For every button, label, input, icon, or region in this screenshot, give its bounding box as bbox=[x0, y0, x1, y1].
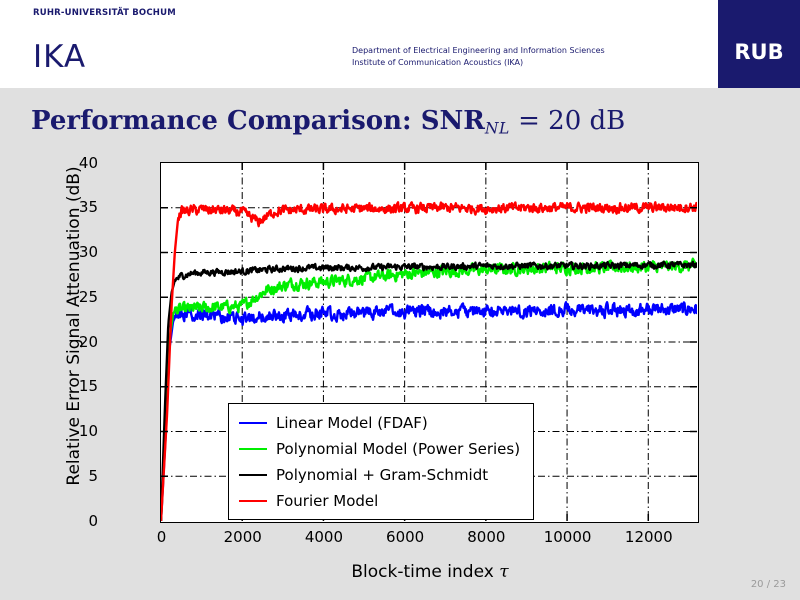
page-number: 20 / 23 bbox=[751, 579, 786, 590]
legend-item: Linear Model (FDAF) bbox=[239, 410, 533, 436]
department-line-2: Institute of Communication Acoustics (IK… bbox=[352, 57, 605, 69]
university-name: RUHR-UNIVERSITÄT BOCHUM bbox=[33, 8, 176, 18]
y-tick-label: 25 bbox=[79, 290, 98, 305]
legend-label-polynomial-model: Polynomial Model (Power Series) bbox=[276, 440, 520, 458]
chart-figure: Relative Error Signal Attenuation (dB) 0… bbox=[0, 150, 800, 590]
x-tick-label: 12000 bbox=[609, 530, 689, 545]
legend-label-gram-schmidt: Polynomial + Gram-Schmidt bbox=[276, 466, 488, 484]
x-tick-label: 4000 bbox=[284, 530, 364, 545]
department-line-1: Department of Electrical Engineering and… bbox=[352, 45, 605, 57]
x-tick-label: 2000 bbox=[203, 530, 283, 545]
rub-logo-text: RUB bbox=[718, 40, 800, 64]
institute-logo: IKA bbox=[33, 42, 86, 73]
x-tick-label: 0 bbox=[122, 530, 202, 545]
title-value: = 20 dB bbox=[510, 106, 625, 136]
y-tick-label: 5 bbox=[88, 469, 98, 484]
rub-logo: RUB bbox=[718, 0, 800, 88]
legend-label-fourier-model: Fourier Model bbox=[276, 492, 378, 510]
legend-swatch-gram-schmidt bbox=[239, 474, 267, 476]
y-tick-label: 0 bbox=[88, 514, 98, 529]
legend-swatch-linear-model bbox=[239, 422, 267, 424]
legend-item: Polynomial + Gram-Schmidt bbox=[239, 462, 533, 488]
x-tick-label: 6000 bbox=[365, 530, 445, 545]
y-tick-label: 20 bbox=[79, 335, 98, 350]
x-axis-label: Block-time index τ bbox=[160, 562, 700, 582]
title-symbol: SNR bbox=[421, 106, 485, 136]
y-tick-label: 30 bbox=[79, 245, 98, 260]
chart-legend: Linear Model (FDAF) Polynomial Model (Po… bbox=[228, 403, 534, 520]
y-tick-label: 10 bbox=[79, 424, 98, 439]
x-tick-label: 8000 bbox=[446, 530, 526, 545]
legend-item: Polynomial Model (Power Series) bbox=[239, 436, 533, 462]
y-tick-label: 15 bbox=[79, 379, 98, 394]
title-subscript: NL bbox=[485, 119, 510, 137]
slide-header: RUHR-UNIVERSITÄT BOCHUM IKA Department o… bbox=[0, 0, 752, 88]
tau-symbol: τ bbox=[499, 562, 508, 582]
department-info: Department of Electrical Engineering and… bbox=[352, 45, 605, 68]
legend-swatch-polynomial-model bbox=[239, 448, 267, 450]
legend-label-linear-model: Linear Model (FDAF) bbox=[276, 414, 428, 432]
legend-item: Fourier Model bbox=[239, 488, 533, 514]
page-title: Performance Comparison: SNRNL = 20 dB bbox=[31, 106, 625, 137]
x-axis-label-text: Block-time index bbox=[351, 562, 499, 582]
y-tick-label: 40 bbox=[79, 156, 98, 171]
title-prefix: Performance Comparison: bbox=[31, 106, 421, 136]
x-tick-label: 10000 bbox=[528, 530, 608, 545]
legend-swatch-fourier-model bbox=[239, 500, 267, 502]
y-tick-label: 35 bbox=[79, 200, 98, 215]
